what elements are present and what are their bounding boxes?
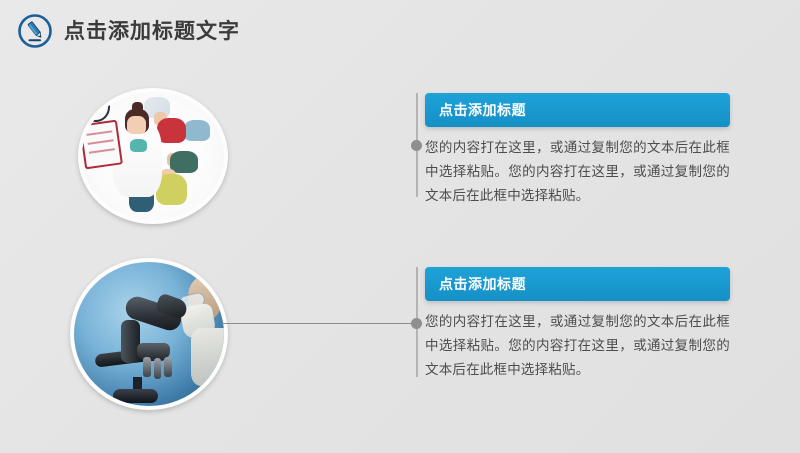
content-row: 点击添加标题 您的内容打在这里，或通过复制您的文本后在此框中选择粘贴。您的内容打… — [0, 255, 800, 413]
medical-team-photo[interactable] — [78, 88, 228, 224]
card-body-text[interactable]: 您的内容打在这里，或通过复制您的文本后在此框中选择粘贴。您的内容打在这里，或通过… — [425, 310, 730, 382]
card-body-text[interactable]: 您的内容打在这里，或通过复制您的文本后在此框中选择粘贴。您的内容打在这里，或通过… — [425, 136, 730, 208]
photo-clip — [82, 92, 224, 220]
card-heading[interactable]: 点击添加标题 — [425, 93, 730, 127]
page-title: 点击添加标题文字 — [64, 21, 240, 42]
connector-dot — [411, 140, 422, 151]
text-card: 点击添加标题 您的内容打在这里，或通过复制您的文本后在此框中选择粘贴。您的内容打… — [425, 267, 730, 382]
slide-header: 点击添加标题文字 — [0, 0, 800, 62]
connector-line — [222, 323, 414, 324]
microscope-artwork — [74, 262, 224, 406]
connector-dot — [411, 318, 422, 329]
medical-team-artwork — [82, 92, 224, 220]
slide-canvas: 点击添加标题文字 — [0, 0, 800, 453]
photo-clip — [74, 262, 224, 406]
microscope-photo[interactable] — [70, 258, 228, 410]
card-heading[interactable]: 点击添加标题 — [425, 267, 730, 301]
pencil-circle-icon — [16, 12, 54, 50]
text-card: 点击添加标题 您的内容打在这里，或通过复制您的文本后在此框中选择粘贴。您的内容打… — [425, 93, 730, 208]
content-row: 点击添加标题 您的内容打在这里，或通过复制您的文本后在此框中选择粘贴。您的内容打… — [0, 85, 800, 230]
